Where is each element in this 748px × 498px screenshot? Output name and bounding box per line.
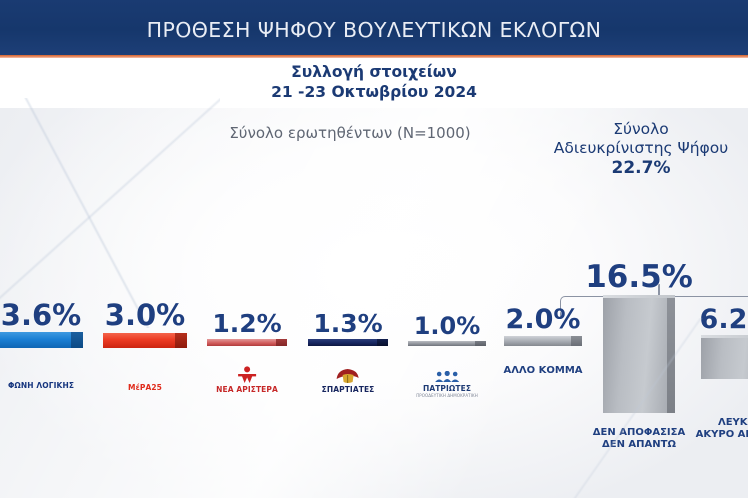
bar-side [377,339,388,346]
party-logo-nea-aristera: ΝΕΑ ΑΡΙΣΤΕΡΑ [216,366,278,394]
poll-infographic: ΠΡΟΘΕΣΗ ΨΗΦΟΥ ΒΟΥΛΕΥΤΙΚΩΝ ΕΚΛΟΓΩΝ Συλλογ… [0,0,748,498]
bar-spartiates[interactable] [308,339,388,346]
bar-side [667,295,675,413]
choice-label-line-2: ΑΚΥΡΟ ΑΠΟΧΗ [696,429,748,440]
bar-group-allo-komma[interactable]: 2.0% ΑΛΛΟ ΚΟΜΜΑ 3.1 [496,213,590,498]
bar-value-mera25: 3.0% [105,298,185,332]
patriotes-people-icon [432,371,462,383]
bar-value-nea-aristera: 1.2% [212,309,281,338]
party-name-mera25: ΜέΡΑ25 [128,383,162,392]
party-logo-spartiates: ΣΠΑΡΤΙΑΤΕΣ [322,366,375,394]
bar-side [475,341,486,346]
bar-mera25[interactable] [103,333,187,348]
undecided-label-line-2: Αδιευκρίνιστης Ψήφου [516,139,748,158]
choice-label-den-apofasisa: ΔΕΝ ΑΠΟΦΑΣΙΣΑ ΔΕΝ ΑΠΑΝΤΩ [593,427,685,450]
bar-face [701,335,748,379]
bar-group-nea-aristera[interactable]: 1.2% ΝΕΑ ΑΡΙΣΤΕΡΑ 2.1 [196,213,298,498]
bar-group-den-apofasisa[interactable]: 16.5% ΔΕΝ ΑΠΟΦΑΣΙΣΑ ΔΕΝ ΑΠΑΝΤΩ 18 [590,213,688,498]
subtitle: Συλλογή στοιχείων 21 -23 Οκτωβρίου 2024 [0,62,748,102]
party-name-foni-logikis: ΦΩΝΗ ΛΟΓΙΚΗΣ [8,381,74,390]
bar-group-lefko-akyro[interactable]: 6.2% ΛΕΥΚΟ ΑΚΥΡΟ ΑΠΟΧΗ 5 [688,213,748,498]
subtitle-line-1: Συλλογή στοιχείων [0,62,748,82]
bar-value-den-apofasisa: 16.5% [585,259,693,295]
party-logo-foni-logikis: ΦΩΝΗ ΛΟΓΙΚΗΣ [8,381,74,390]
bar-value-spartiates: 1.3% [313,309,382,338]
bar-group-foni-logikis[interactable]: 3.6% ΦΩΝΗ ΛΟΓΙΚΗΣ 3.6 [0,213,94,498]
sample-size-caption: Σύνολο ερωτηθέντων (Ν=1000) [140,124,560,142]
party-name-spartiates: ΣΠΑΡΤΙΑΤΕΣ [322,385,375,394]
party-logo-mera25: ΜέΡΑ25 [128,383,162,392]
undecided-label-line-1: Σύνολο [613,120,669,138]
bar-value-foni-logikis: 3.6% [1,298,81,332]
choice-label-lefko-akyro: ΛΕΥΚΟ ΑΚΥΡΟ ΑΠΟΧΗ [696,417,748,440]
bar-group-spartiates[interactable]: 1.3% ΣΠΑΡΤΙΑΤΕΣ 1 [298,213,398,498]
bar-face [603,295,675,413]
chart-plot-area: Σύνολο ερωτηθέντων (Ν=1000) Σύνολο Αδιευ… [0,108,748,498]
bar-foni-logikis[interactable] [0,332,83,348]
bar-top [603,295,675,298]
bar-patriotes[interactable] [408,341,486,346]
bar-den-apofasisa[interactable] [603,295,675,413]
bar-side [175,333,187,348]
choice-label-line-1: ΛΕΥΚΟ [718,417,748,428]
nea-aristera-mark-icon [236,366,258,384]
bar-value-allo-komma: 2.0% [506,304,581,335]
chart-panel: Σύνολο ερωτηθέντων (Ν=1000) Σύνολο Αδιευ… [0,108,748,498]
bar-side [276,339,287,346]
bar-value-lefko-akyro: 6.2% [700,304,748,335]
choice-label-line-2: ΔΕΝ ΑΠΑΝΤΩ [602,439,676,450]
header-accent-line [0,55,748,58]
bar-top [701,335,748,338]
header-bar: ΠΡΟΘΕΣΗ ΨΗΦΟΥ ΒΟΥΛΕΥΤΙΚΩΝ ΕΚΛΟΓΩΝ [0,0,748,55]
party-name-nea-aristera: ΝΕΑ ΑΡΙΣΤΕΡΑ [216,385,278,394]
bar-side [571,336,582,346]
bar-value-patriotes: 1.0% [414,312,481,340]
bar-lefko-akyro[interactable] [701,335,748,379]
spartiates-helmet-icon [335,366,361,384]
bar-face [504,336,582,346]
bar-group-mera25[interactable]: 3.0% ΜέΡΑ25 3.1 [94,213,196,498]
bar-allo-komma[interactable] [504,336,582,346]
choice-label-allo-komma: ΑΛΛΟ ΚΟΜΜΑ [503,365,582,377]
bar-side [71,332,83,348]
undecided-group-label: Σύνολο Αδιευκρίνιστης Ψήφου 22.7% [516,120,748,178]
party-logo-patriotes: ΠΑΤΡΙΩΤΕΣ ΠΡΟΟΔΕΥΤΙΚΗ ΔΗΜΟΚΡΑΤΙΚΗ [416,371,478,398]
party-subtitle-patriotes: ΠΡΟΟΔΕΥΤΙΚΗ ΔΗΜΟΚΡΑΤΙΚΗ [416,393,478,398]
bar-nea-aristera[interactable] [207,339,287,346]
page-title: ΠΡΟΘΕΣΗ ΨΗΦΟΥ ΒΟΥΛΕΥΤΙΚΩΝ ΕΚΛΟΓΩΝ [0,19,748,41]
party-name-patriotes: ΠΑΤΡΙΩΤΕΣ [416,384,478,393]
choice-label-line-1: ΔΕΝ ΑΠΟΦΑΣΙΣΑ [593,427,685,438]
bar-group-patriotes[interactable]: 1.0% ΠΑΤΡΙΩΤΕΣ ΠΡΟΟΔΕΥΤΙΚΗ ΔΗΜΟ [398,213,496,498]
undecided-group-value: 22.7% [516,159,748,178]
